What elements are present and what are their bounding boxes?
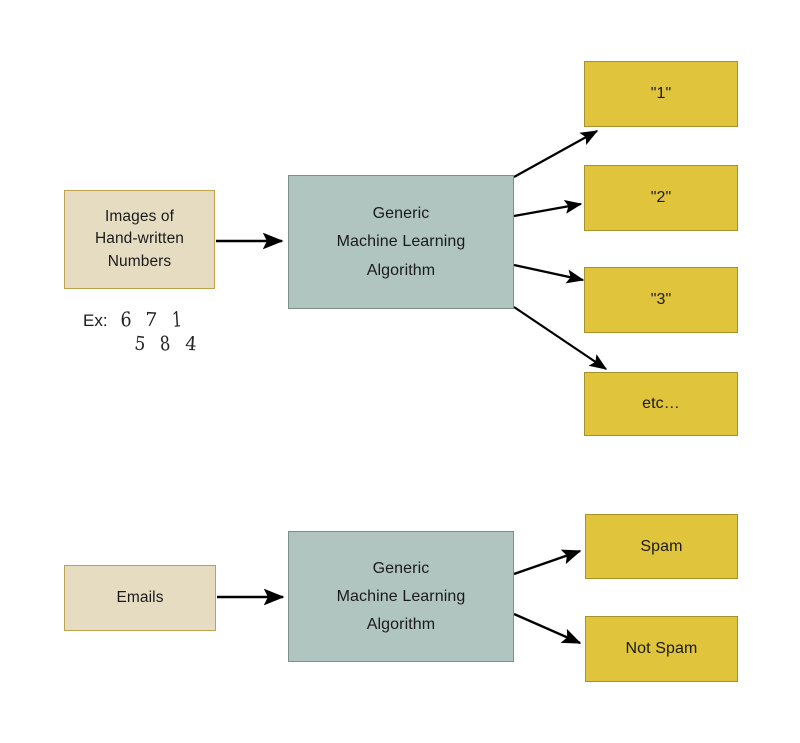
node-line-2: Machine Learning [337,231,466,252]
diagram-canvas: Images of Hand-written Numbers Ex: 6 7 1… [0,0,800,743]
node-label: Spam [640,536,682,557]
arrow-algorithm-to-2 [514,204,581,216]
node-line-3: Numbers [108,252,172,272]
node-line-1: Generic [373,203,430,224]
node-label: Not Spam [626,638,698,659]
node-label: "3" [651,289,672,310]
node-label: "2" [651,187,672,208]
handwritten-digit-row-1: 6 7 1 [120,309,197,331]
example-handwritten-digits: Ex: 6 7 1 5 8 4 [83,309,197,355]
node-line-2: Hand-written [95,229,184,249]
node-output-not-spam[interactable]: Not Spam [585,616,738,682]
node-generic-ml-algorithm-1[interactable]: Generic Machine Learning Algorithm [288,175,514,309]
arrow-algorithm-to-not-spam [514,614,580,643]
node-line-1: Images of [105,207,174,227]
handwritten-digit: 4 [184,333,197,356]
node-line-2: Machine Learning [337,586,466,607]
handwritten-digit: 6 [120,308,132,333]
node-output-digit-1[interactable]: "1" [584,61,738,127]
handwritten-digit: 5 [133,332,146,355]
arrow-algorithm-to-3 [514,265,583,280]
node-images-of-handwritten-numbers[interactable]: Images of Hand-written Numbers [64,190,215,289]
handwritten-digit: 1 [171,308,182,333]
handwritten-digit: 7 [144,309,157,332]
arrow-algorithm-to-spam [514,551,580,574]
node-output-spam[interactable]: Spam [585,514,738,579]
node-line-3: Algorithm [367,260,435,281]
handwritten-digit: 8 [159,332,171,356]
example-label: Ex: [83,309,108,331]
node-output-digit-3[interactable]: "3" [584,267,738,333]
handwritten-digit-grid: 6 7 1 5 8 4 [120,309,197,355]
node-label: "1" [651,83,672,104]
node-emails[interactable]: Emails [64,565,216,631]
node-label: etc… [642,393,680,414]
handwritten-digit-row-2: 5 8 4 [134,333,197,355]
node-line-1: Generic [373,558,430,579]
node-line-1: Emails [116,588,163,608]
node-line-3: Algorithm [367,614,435,635]
node-generic-ml-algorithm-2[interactable]: Generic Machine Learning Algorithm [288,531,514,662]
node-output-digit-2[interactable]: "2" [584,165,738,231]
node-output-etc[interactable]: etc… [584,372,738,436]
